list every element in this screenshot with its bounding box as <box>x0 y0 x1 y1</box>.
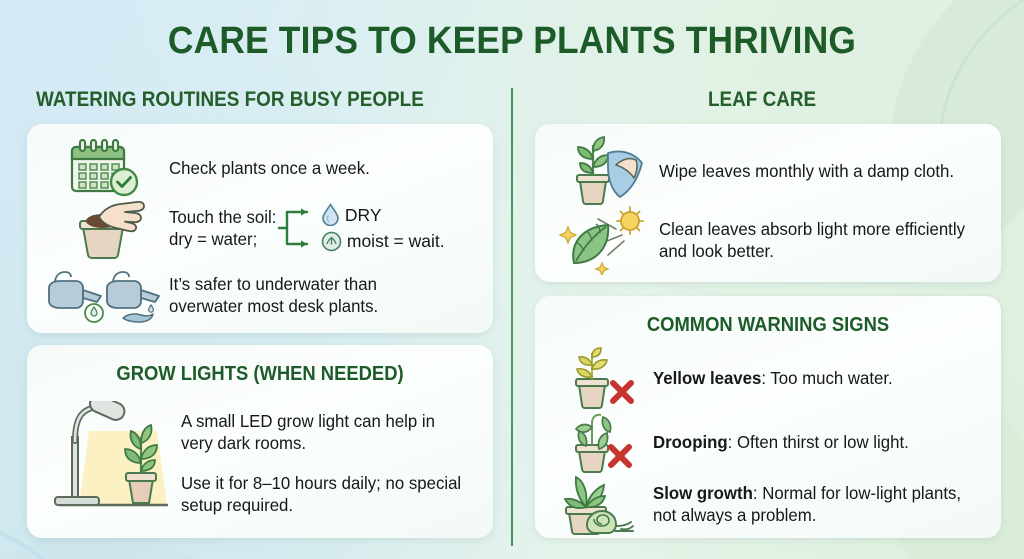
grow-lights-texts: A small LED grow light can help in very … <box>181 410 469 517</box>
card-leaf-care: Wipe leaves monthly with a damp cloth. <box>535 124 1001 282</box>
warning-row-yellow-leaves: Yellow leaves: Too much water. <box>549 346 989 410</box>
warning-row-slow-growth: Slow growth: Normal for low-light plants… <box>549 474 989 534</box>
red-x-icon <box>613 383 631 401</box>
soil-branch-diagram: Touch the soil: dry = water; DR <box>169 202 445 254</box>
warning-label-slow-growth: Slow growth <box>653 483 753 503</box>
clean-leaf-sunlight-icon <box>549 205 659 275</box>
soil-branch-lead: Touch the soil: dry = water; <box>169 206 276 251</box>
warning-row-drooping: Drooping: Often thirst or low light. <box>549 410 989 474</box>
warning-label-yellow-leaves: Yellow leaves <box>653 368 761 388</box>
yellow-leaves-plant-icon <box>549 347 653 409</box>
branch-arrows-icon <box>275 202 319 254</box>
moisture-meter-icon <box>321 231 342 252</box>
watering-cans-comparison-icon: VS <box>41 266 169 324</box>
tip-row-wipe-leaves: Wipe leaves monthly with a damp cloth. <box>549 134 989 208</box>
tip-row-underwater: VS It’s safer to underwater than overwat… <box>41 264 481 326</box>
grow-lights-paragraph-2: Use it for 8–10 hours daily; no special … <box>181 472 469 517</box>
calendar-check-icon <box>41 139 169 197</box>
branch-dry-label: DRY <box>345 204 382 226</box>
branch-moist: moist = wait. <box>321 230 445 252</box>
card-title-warning-signs: COMMON WARNING SIGNS <box>554 314 983 337</box>
warning-text-yellow-leaves: Yellow leaves: Too much water. <box>653 367 893 389</box>
branch-dry: DRY <box>321 203 445 226</box>
tip-text-underwater: It’s safer to underwater than overwater … <box>169 273 378 318</box>
warning-label-drooping: Drooping <box>653 432 728 452</box>
hand-touching-soil-icon <box>41 193 169 263</box>
card-title-grow-lights: GROW LIGHTS (WHEN NEEDED) <box>46 363 475 386</box>
tip-text-underwater-line2: overwater most desk plants. <box>169 295 378 317</box>
page-title: CARE TIPS TO KEEP PLANTS THRIVING <box>36 20 988 63</box>
desk-lamp-plant-icon <box>41 401 181 525</box>
column-divider <box>511 88 513 546</box>
soil-branch-lead-line2: dry = water; <box>169 228 276 250</box>
warning-text-drooping: Drooping: Often thirst or low light. <box>653 431 909 453</box>
drooping-plant-icon <box>549 411 653 473</box>
branch-moist-label: moist = wait. <box>347 230 445 252</box>
warning-text-slow-growth: Slow growth: Normal for low-light plants… <box>653 482 976 527</box>
tip-row-clean-leaves: Clean leaves absorb light more efficient… <box>549 204 989 276</box>
infographic-poster: CARE TIPS TO KEEP PLANTS THRIVING WATERI… <box>0 0 1024 559</box>
tip-text-wipe-leaves: Wipe leaves monthly with a damp cloth. <box>659 160 954 182</box>
grow-lights-paragraph-1: A small LED grow light can help in very … <box>181 410 469 455</box>
card-watering-routines: Check plants once a week. Touch the soil… <box>27 124 493 333</box>
warning-desc-drooping: : Often thirst or low light. <box>728 432 909 452</box>
snail-slow-growth-icon <box>549 473 653 535</box>
tip-text-clean-leaves: Clean leaves absorb light more efficient… <box>659 218 976 263</box>
card-grow-lights: GROW LIGHTS (WHEN NEEDED) <box>27 345 493 538</box>
soil-branch-lead-line1: Touch the soil: <box>169 206 276 228</box>
wiping-leaves-cloth-icon <box>549 135 659 207</box>
card-warning-signs: COMMON WARNING SIGNS Yellow leaves: Too … <box>535 296 1001 538</box>
section-heading-watering: WATERING ROUTINES FOR BUSY PEOPLE <box>36 88 424 112</box>
tip-text-weekly-check: Check plants once a week. <box>169 157 370 179</box>
red-x-icon <box>611 447 629 465</box>
tip-row-touch-soil: Touch the soil: dry = water; DR <box>41 192 481 264</box>
section-heading-leaf-care: LEAF CARE <box>708 88 816 112</box>
grow-lights-body: A small LED grow light can help in very … <box>41 397 481 529</box>
warning-desc-yellow-leaves: : Too much water. <box>761 368 892 388</box>
tip-text-underwater-line1: It’s safer to underwater than <box>169 273 378 295</box>
water-drop-icon <box>321 203 340 226</box>
tip-row-weekly-check: Check plants once a week. <box>41 138 481 198</box>
